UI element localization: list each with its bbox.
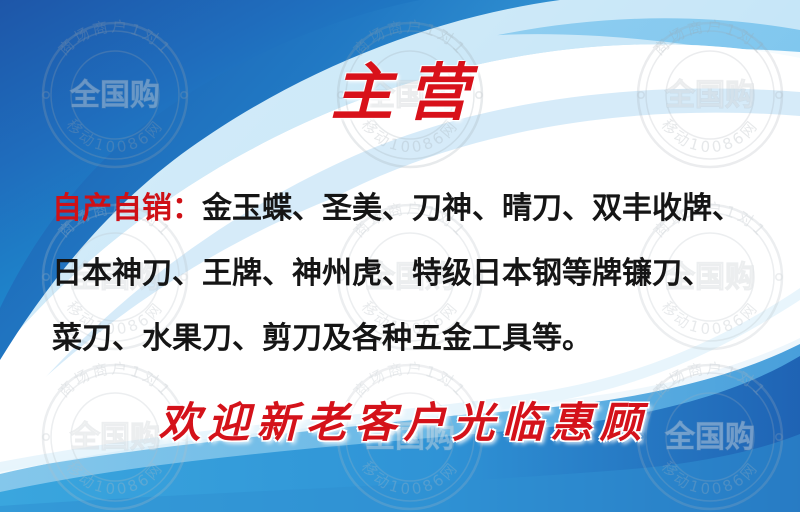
poster-canvas: 商场商户1对1 移动10086网 全国购 商场商户1对1 [0,0,800,512]
product-line-2-text: 日本神刀、王牌、神州虎、特级日本钢等牌镰刀、 [52,256,712,291]
product-line-1-text: 金玉蝶、圣美、刀神、晴刀、双丰收牌、 [202,191,742,226]
welcome-slogan: 欢迎新老客户光临惠顾 [0,398,800,448]
product-list: 自产自销：金玉蝶、圣美、刀神、晴刀、双丰收牌、 日本神刀、王牌、神州虎、特级日本… [52,176,762,371]
product-line-3-text: 菜刀、水果刀、剪刀及各种五金工具等。 [52,321,592,356]
product-line-1: 自产自销：金玉蝶、圣美、刀神、晴刀、双丰收牌、 [52,176,762,241]
product-line-3: 菜刀、水果刀、剪刀及各种五金工具等。 [52,306,762,371]
product-line-1-highlight: 自产自销： [52,191,202,226]
product-line-2: 日本神刀、王牌、神州虎、特级日本钢等牌镰刀、 [52,241,762,306]
page-title: 主营 [0,62,800,124]
